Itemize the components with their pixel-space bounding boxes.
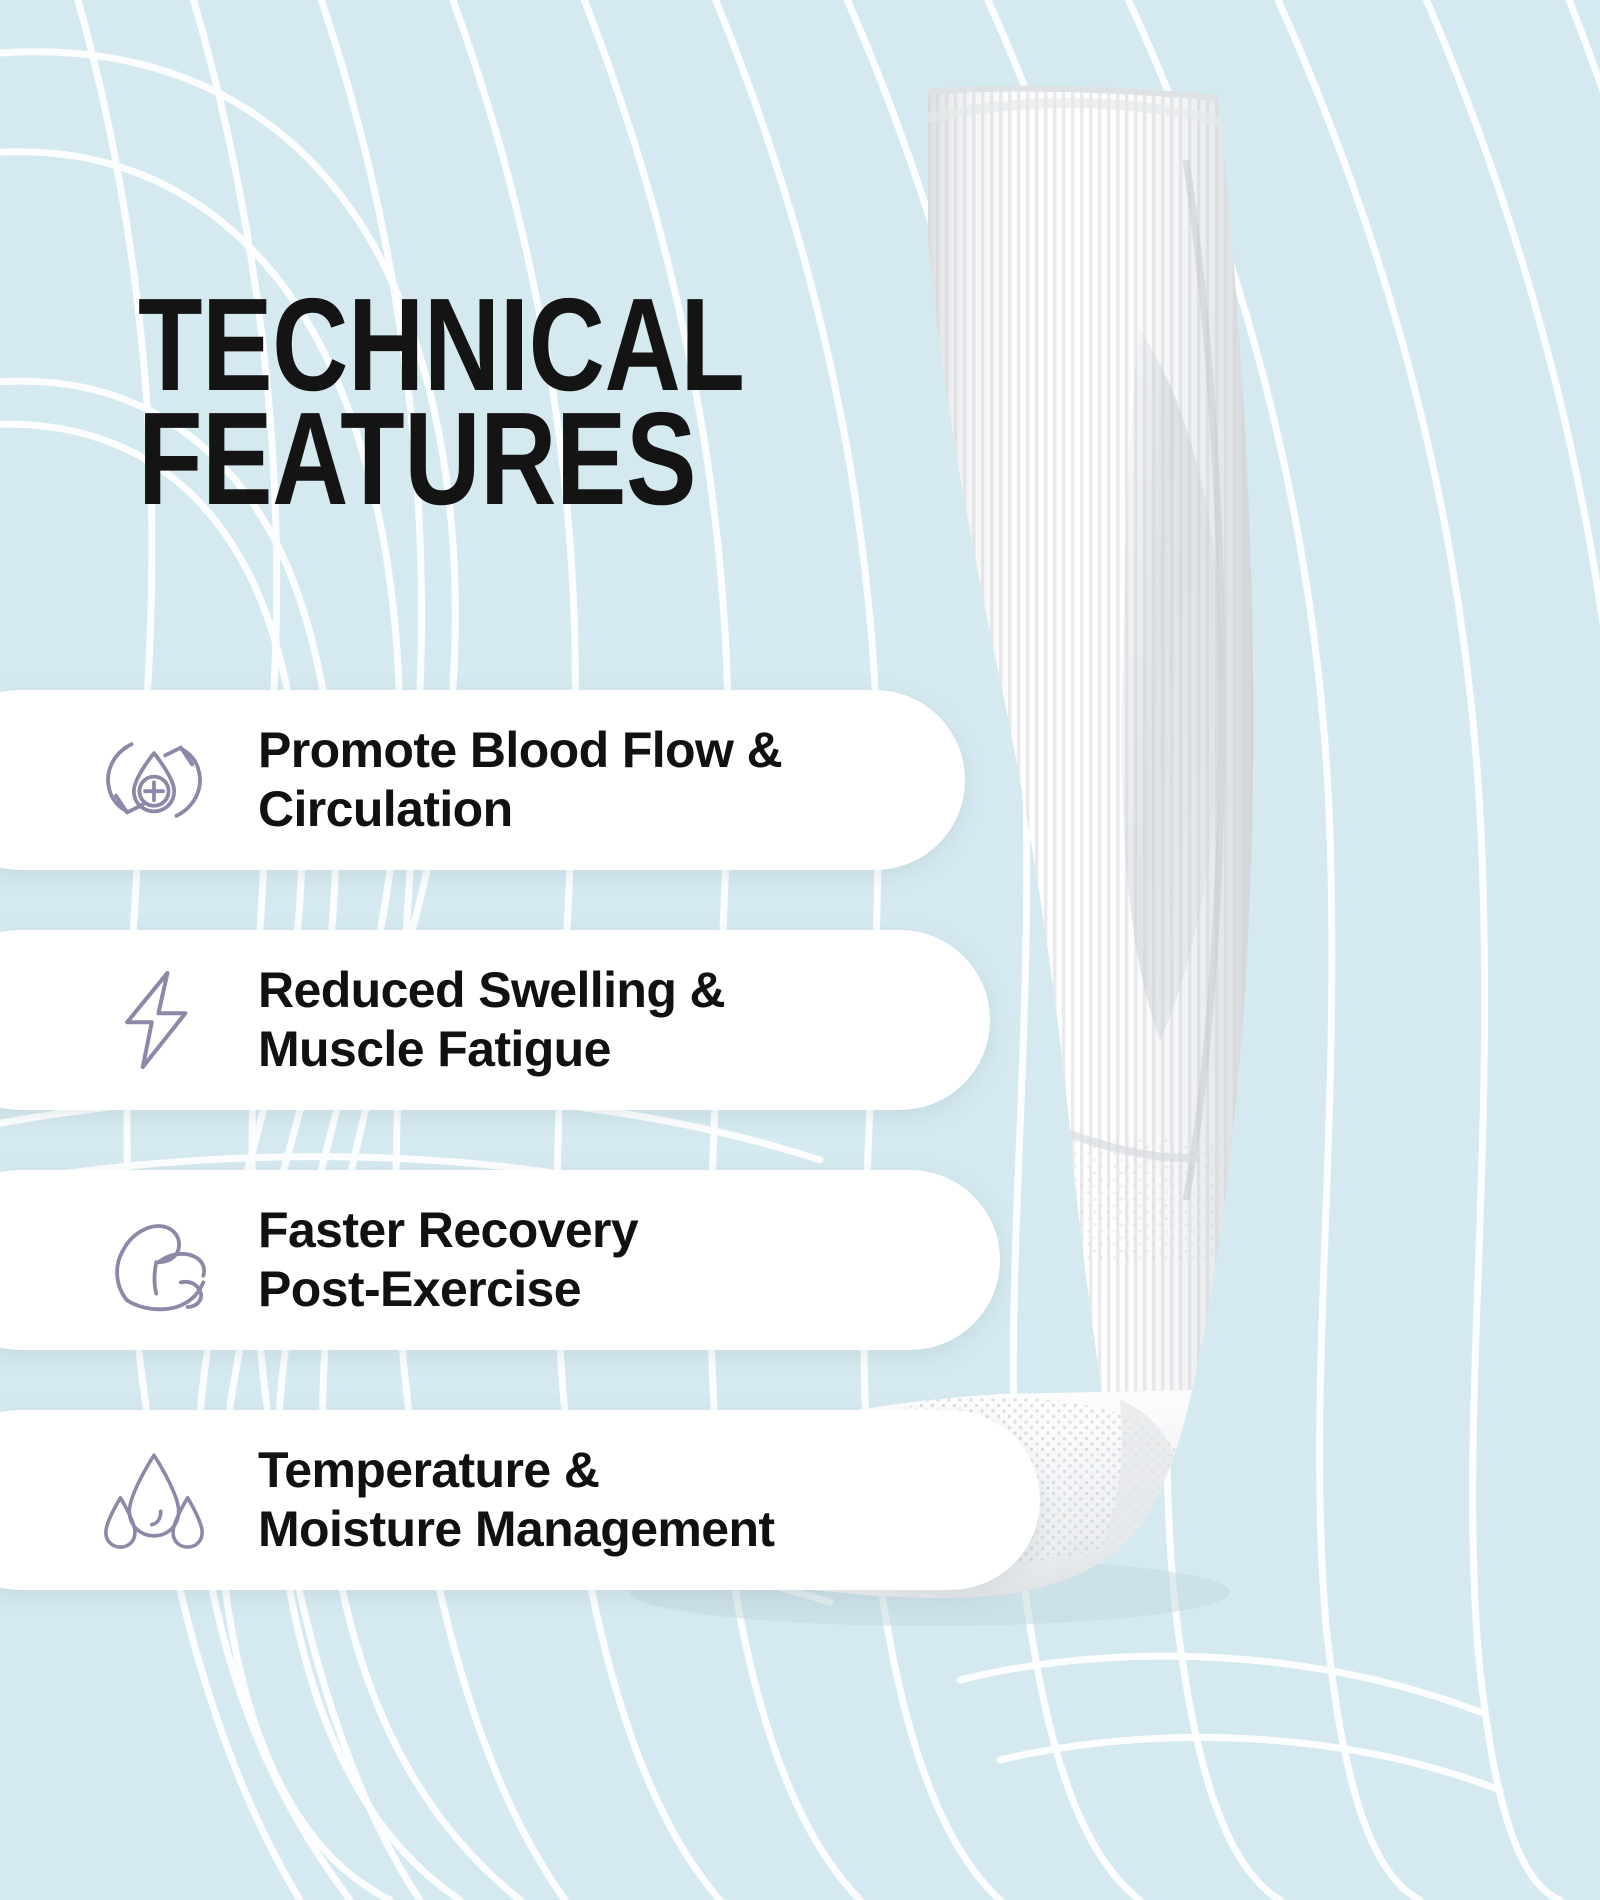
feature-label: Promote Blood Flow & Circulation xyxy=(258,721,782,839)
feature-label-line-1: Promote Blood Flow & xyxy=(258,722,782,778)
water-droplets-icon xyxy=(98,1444,210,1556)
feature-label-line-2: Post-Exercise xyxy=(258,1261,581,1317)
feature-label-line-2: Muscle Fatigue xyxy=(258,1021,611,1077)
feature-card-blood-flow[interactable]: Promote Blood Flow & Circulation xyxy=(0,690,965,870)
feature-card-reduced-swelling[interactable]: Reduced Swelling & Muscle Fatigue xyxy=(0,930,990,1110)
feature-label-line-2: Circulation xyxy=(258,781,513,837)
feature-label-line-1: Temperature & xyxy=(258,1442,599,1498)
feature-label: Reduced Swelling & Muscle Fatigue xyxy=(258,961,725,1079)
flexed-bicep-icon xyxy=(98,1204,210,1316)
feature-card-list: Promote Blood Flow & Circulation Reduced… xyxy=(0,690,1030,1650)
feature-label: Temperature & Moisture Management xyxy=(258,1441,774,1559)
feature-label: Faster Recovery Post-Exercise xyxy=(258,1201,638,1319)
feature-card-faster-recovery[interactable]: Faster Recovery Post-Exercise xyxy=(0,1170,1000,1350)
lightning-bolt-icon xyxy=(98,964,210,1076)
feature-label-line-1: Faster Recovery xyxy=(258,1202,638,1258)
feature-label-line-2: Moisture Management xyxy=(258,1501,774,1557)
page-title: TECHNICAL FEATURES xyxy=(138,288,896,515)
title-line-2: FEATURES xyxy=(138,402,744,516)
feature-label-line-1: Reduced Swelling & xyxy=(258,962,725,1018)
blood-circulation-icon xyxy=(98,724,210,836)
feature-card-temperature-moisture[interactable]: Temperature & Moisture Management xyxy=(0,1410,1040,1590)
technical-features-poster: TECHNICAL FEATURES Promote Blood Flow & xyxy=(0,0,1600,1900)
